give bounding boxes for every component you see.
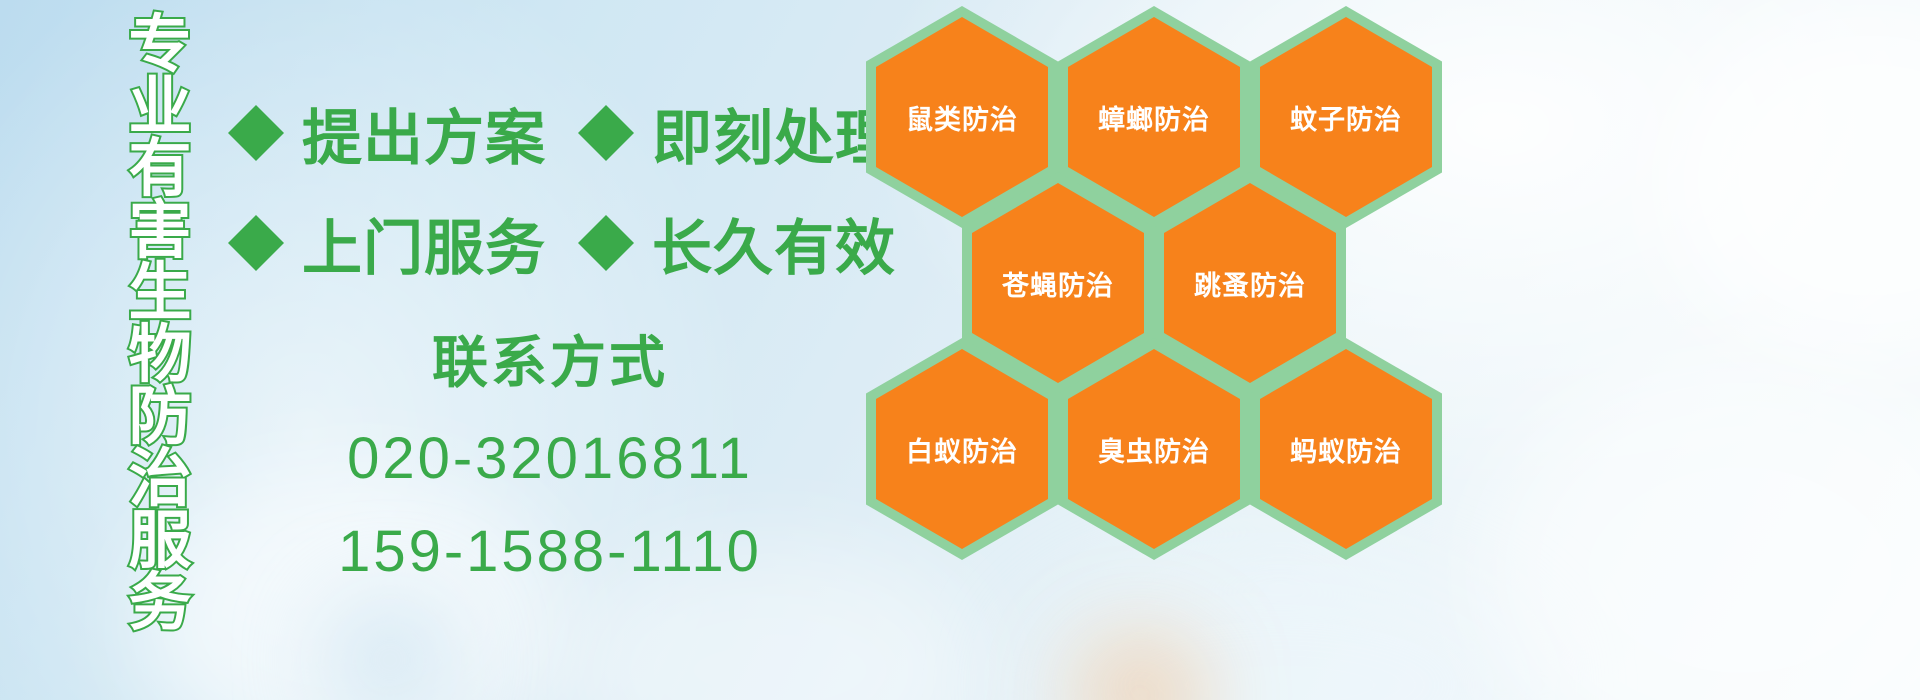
background-blob — [1480, 360, 1920, 700]
service-hexagon-grid: 鼠类防治 蟑螂防治 蚊子防治 苍蝇防治 跳蚤防治 白蚁防治 — [860, 0, 1460, 700]
feature-row: 上门服务 长久有效 — [228, 188, 868, 298]
hexagon-inner: 蚂蚁防治 — [1260, 349, 1432, 549]
feature-item-propose-plan: 提出方案 — [228, 90, 546, 177]
vertical-title-char: 防 — [129, 386, 192, 448]
hexagon-inner: 鼠类防治 — [876, 17, 1048, 217]
feature-item-long-lasting: 长久有效 — [578, 200, 896, 287]
feature-item-immediate-handling: 即刻处理 — [578, 90, 896, 177]
pest-control-banner: 专 业 有 害 生 物 防 治 服 务 提出方案 即刻处理 上门服务 — [0, 0, 1920, 700]
feature-label: 提出方案 — [302, 90, 546, 177]
vertical-title-char: 务 — [129, 572, 192, 634]
diamond-icon — [228, 77, 284, 133]
background-blob — [1660, 0, 1920, 360]
service-label: 蟑螂防治 — [1098, 98, 1210, 137]
hexagon-inner: 蟑螂防治 — [1068, 17, 1240, 217]
hexagon-inner: 跳蚤防治 — [1164, 183, 1336, 383]
service-label: 苍蝇防治 — [1002, 264, 1114, 303]
diamond-icon — [578, 77, 634, 133]
vertical-title-char: 物 — [129, 324, 192, 386]
contact-block: 联系方式 020-32016811 159-1588-1110 — [240, 318, 860, 585]
service-label: 鼠类防治 — [906, 98, 1018, 137]
vertical-title-char: 业 — [129, 76, 192, 138]
hexagon-inner: 苍蝇防治 — [972, 183, 1144, 383]
service-label: 白蚁防治 — [906, 430, 1018, 469]
vertical-title: 专 业 有 害 生 物 防 治 服 务 — [108, 14, 212, 574]
hexagon-inner: 蚊子防治 — [1260, 17, 1432, 217]
service-label: 臭虫防治 — [1098, 430, 1210, 469]
contact-heading: 联系方式 — [240, 318, 860, 399]
vertical-title-char: 害 — [129, 200, 192, 262]
vertical-title-char: 有 — [129, 138, 192, 200]
feature-item-onsite-service: 上门服务 — [228, 200, 546, 287]
vertical-title-char: 专 — [129, 14, 192, 76]
feature-row: 提出方案 即刻处理 — [228, 78, 868, 188]
vertical-title-char: 生 — [129, 262, 192, 324]
feature-label: 上门服务 — [302, 200, 546, 287]
diamond-icon — [228, 187, 284, 243]
service-label: 蚂蚁防治 — [1290, 430, 1402, 469]
vertical-title-char: 治 — [129, 448, 192, 510]
contact-phone-mobile[interactable]: 159-1588-1110 — [240, 518, 860, 585]
vertical-title-char: 服 — [129, 510, 192, 572]
service-label: 跳蚤防治 — [1194, 264, 1306, 303]
background-blob — [330, 600, 450, 700]
feature-list: 提出方案 即刻处理 上门服务 长久有效 — [228, 78, 868, 298]
diamond-icon — [578, 187, 634, 243]
service-label: 蚊子防治 — [1290, 98, 1402, 137]
hexagon-inner: 臭虫防治 — [1068, 349, 1240, 549]
contact-phone-landline[interactable]: 020-32016811 — [240, 425, 860, 492]
hexagon-inner: 白蚁防治 — [876, 349, 1048, 549]
